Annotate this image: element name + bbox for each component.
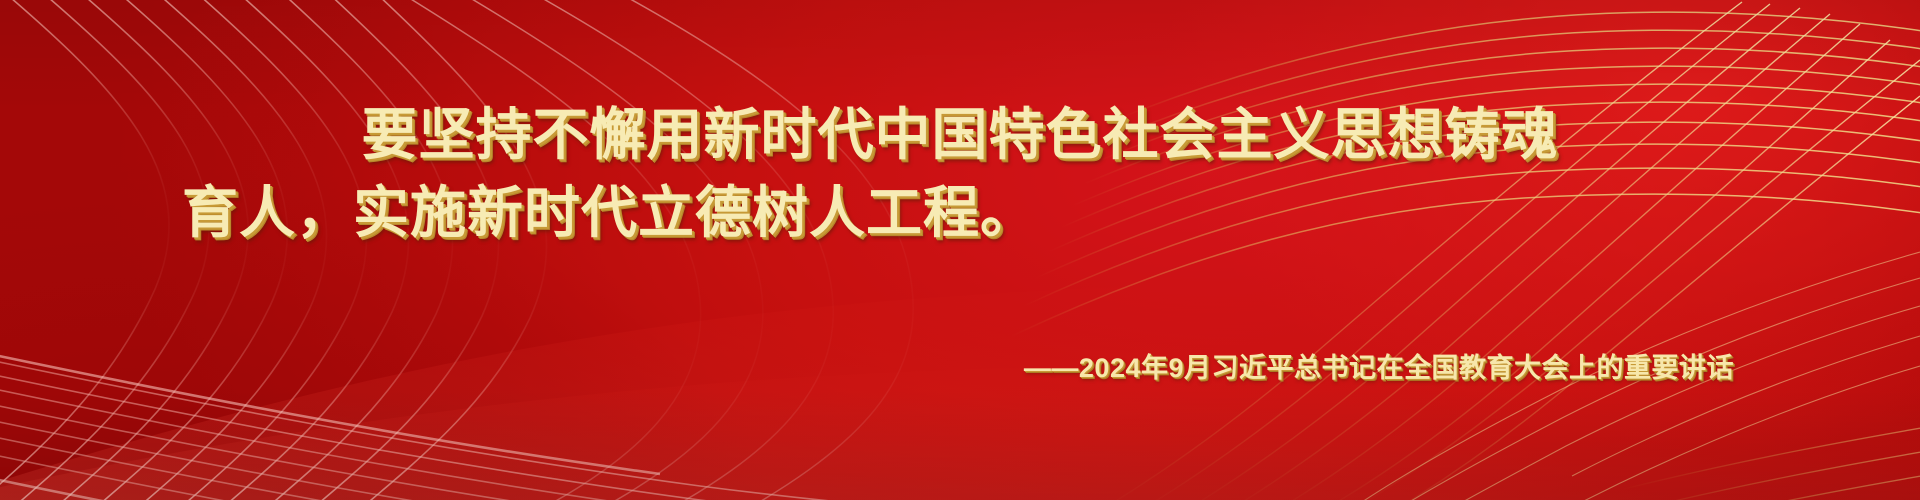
headline-block: 要坚持不懈用新时代中国特色社会主义思想铸魂 育人，实施新时代立德树人工程。 (0, 96, 1920, 252)
banner-content: 要坚持不懈用新时代中国特色社会主义思想铸魂 育人，实施新时代立德树人工程。 ——… (0, 0, 1920, 500)
quote-attribution: ——2024年9月习近平总书记在全国教育大会上的重要讲话 (1024, 348, 1734, 388)
headline-line-2: 育人，实施新时代立德树人工程。 (150, 174, 1770, 252)
red-celebration-banner: 要坚持不懈用新时代中国特色社会主义思想铸魂 育人，实施新时代立德树人工程。 ——… (0, 0, 1920, 500)
headline-line-1: 要坚持不懈用新时代中国特色社会主义思想铸魂 (150, 96, 1770, 174)
